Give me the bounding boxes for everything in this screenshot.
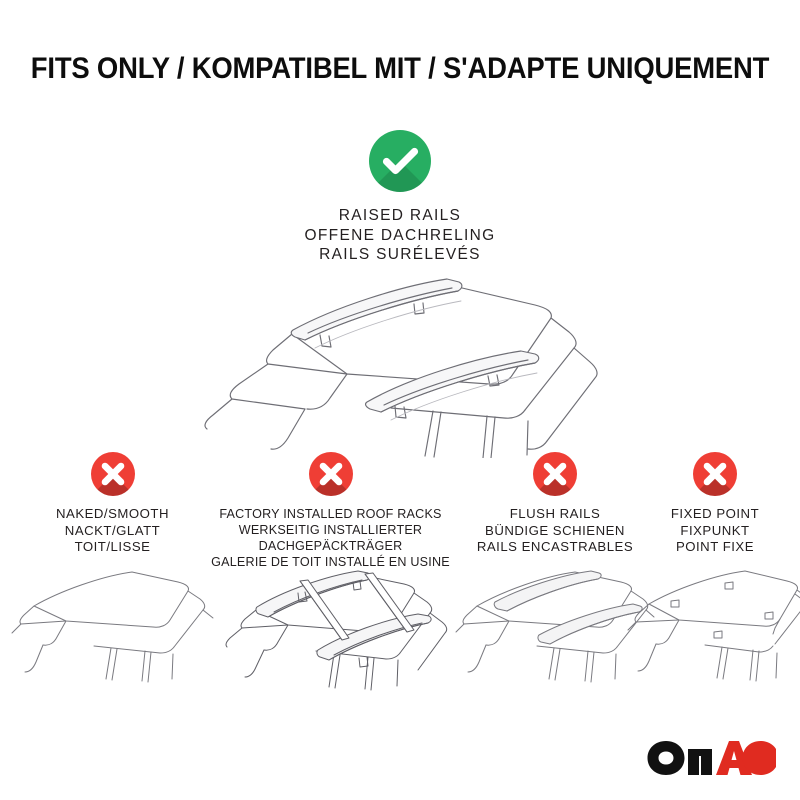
car-roof-raised-rails-illustration: [195, 278, 615, 458]
incompatible-caption: FACTORY INSTALLED ROOF RACKS WERKSEITIG …: [208, 506, 453, 570]
car-roof-naked-smooth-illustration: [10, 564, 215, 694]
incompatible-item-factory-racks: FACTORY INSTALLED ROOF RACKS WERKSEITIG …: [208, 452, 453, 570]
compatible-line-en: RAISED RAILS: [0, 206, 800, 226]
caption-line-en: FIXED POINT: [640, 506, 790, 523]
x-circle-icon: [693, 452, 737, 496]
page-title: FITS ONLY / KOMPATIBEL MIT / S'ADAPTE UN…: [28, 52, 772, 86]
logo-letter-m: [688, 749, 712, 775]
caption-line-en: NAKED/SMOOTH: [10, 506, 215, 523]
compatible-line-de: OFFENE DACHRELING: [0, 226, 800, 246]
compatible-line-fr: RAILS SURÉLEVÉS: [0, 245, 800, 265]
compatible-caption: RAISED RAILS OFFENE DACHRELING RAILS SUR…: [0, 206, 800, 265]
x-circle-icon: [309, 452, 353, 496]
incompatible-item-flush-rails: FLUSH RAILS BÜNDIGE SCHIENEN RAILS ENCAS…: [455, 452, 655, 556]
x-circle-icon: [533, 452, 577, 496]
incompatible-item-fixed-point: FIXED POINT FIXPUNKT POINT FIXE: [640, 452, 790, 556]
incompatible-caption: FLUSH RAILS BÜNDIGE SCHIENEN RAILS ENCAS…: [455, 506, 655, 556]
incompatible-caption: NAKED/SMOOTH NACKT/GLATT TOIT/LISSE: [10, 506, 215, 556]
car-roof-fixed-point-illustration: [625, 564, 800, 694]
caption-line-de: BÜNDIGE SCHIENEN: [455, 523, 655, 540]
logo-letter-o: [648, 741, 685, 775]
omac-logo: [646, 738, 778, 778]
car-roof-factory-racks-illustration: [208, 562, 453, 697]
caption-line-de: FIXPUNKT: [640, 523, 790, 540]
caption-line-de-1: WERKSEITIG INSTALLIERTER: [208, 522, 453, 538]
caption-line-de: NACKT/GLATT: [10, 523, 215, 540]
caption-line-de-2: DACHGEPÄCKTRÄGER: [208, 538, 453, 554]
incompatible-caption: FIXED POINT FIXPUNKT POINT FIXE: [640, 506, 790, 556]
incompatible-section: NAKED/SMOOTH NACKT/GLATT TOIT/LISSE: [0, 452, 800, 702]
logo-letter-c: [743, 741, 777, 775]
compatibility-infographic: FITS ONLY / KOMPATIBEL MIT / S'ADAPTE UN…: [0, 0, 800, 800]
caption-line-en: FACTORY INSTALLED ROOF RACKS: [208, 506, 453, 522]
incompatible-item-naked-smooth: NAKED/SMOOTH NACKT/GLATT TOIT/LISSE: [10, 452, 215, 556]
x-circle-icon: [91, 452, 135, 496]
check-circle-icon: [369, 130, 431, 192]
caption-line-fr: RAILS ENCASTRABLES: [455, 539, 655, 556]
compatible-section: RAISED RAILS OFFENE DACHRELING RAILS SUR…: [0, 130, 800, 265]
caption-line-fr: POINT FIXE: [640, 539, 790, 556]
caption-line-en: FLUSH RAILS: [455, 506, 655, 523]
caption-line-fr: TOIT/LISSE: [10, 539, 215, 556]
